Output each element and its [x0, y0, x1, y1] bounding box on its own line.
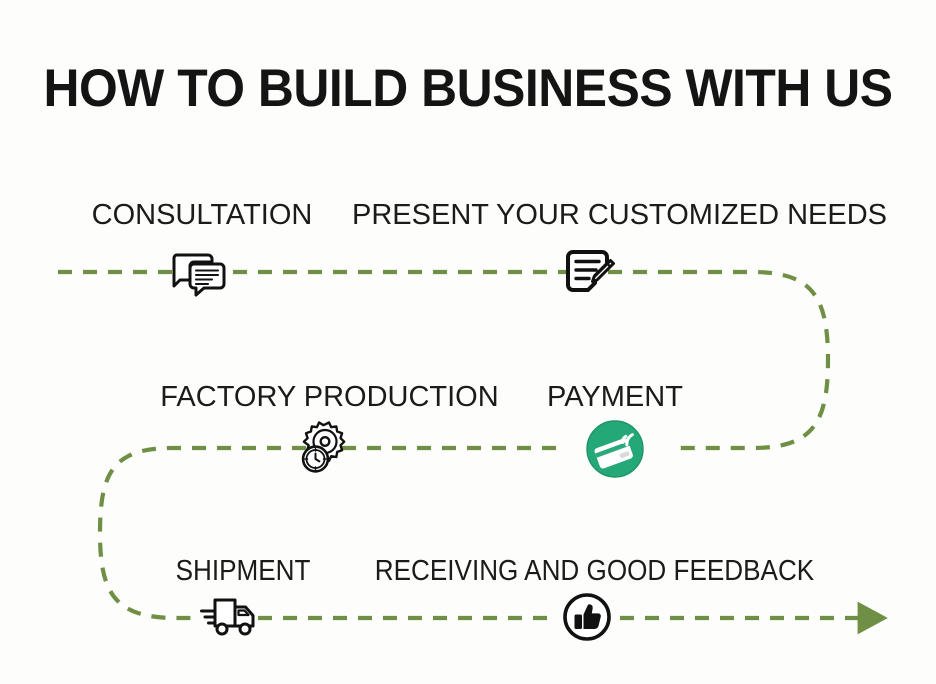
- contactless-card-icon: [586, 420, 644, 478]
- flow-segment-row1: [58, 272, 828, 448]
- step-label-present-needs: PRESENT YOUR CUSTOMIZED NEEDS: [352, 198, 872, 232]
- delivery-truck-icon: [198, 592, 260, 640]
- step-label-factory-production: FACTORY PRODUCTION: [142, 380, 517, 414]
- step-label-payment: PAYMENT: [520, 380, 710, 414]
- page-title: HOW TO BUILD BUSINESS WITH US: [28, 58, 908, 120]
- chat-bubbles-icon: [170, 252, 226, 298]
- document-pencil-icon: [566, 250, 616, 300]
- step-label-consultation: CONSULTATION: [62, 198, 342, 232]
- thumbs-up-circle-icon: [562, 592, 612, 642]
- step-label-receiving-feedback: RECEIVING AND GOOD FEEDBACK: [363, 554, 827, 588]
- infographic-canvas: HOW TO BUILD BUSINESS WITH US CONSULTATI…: [0, 0, 936, 684]
- step-label-shipment: SHIPMENT: [144, 554, 342, 588]
- gear-clock-icon: [298, 420, 352, 474]
